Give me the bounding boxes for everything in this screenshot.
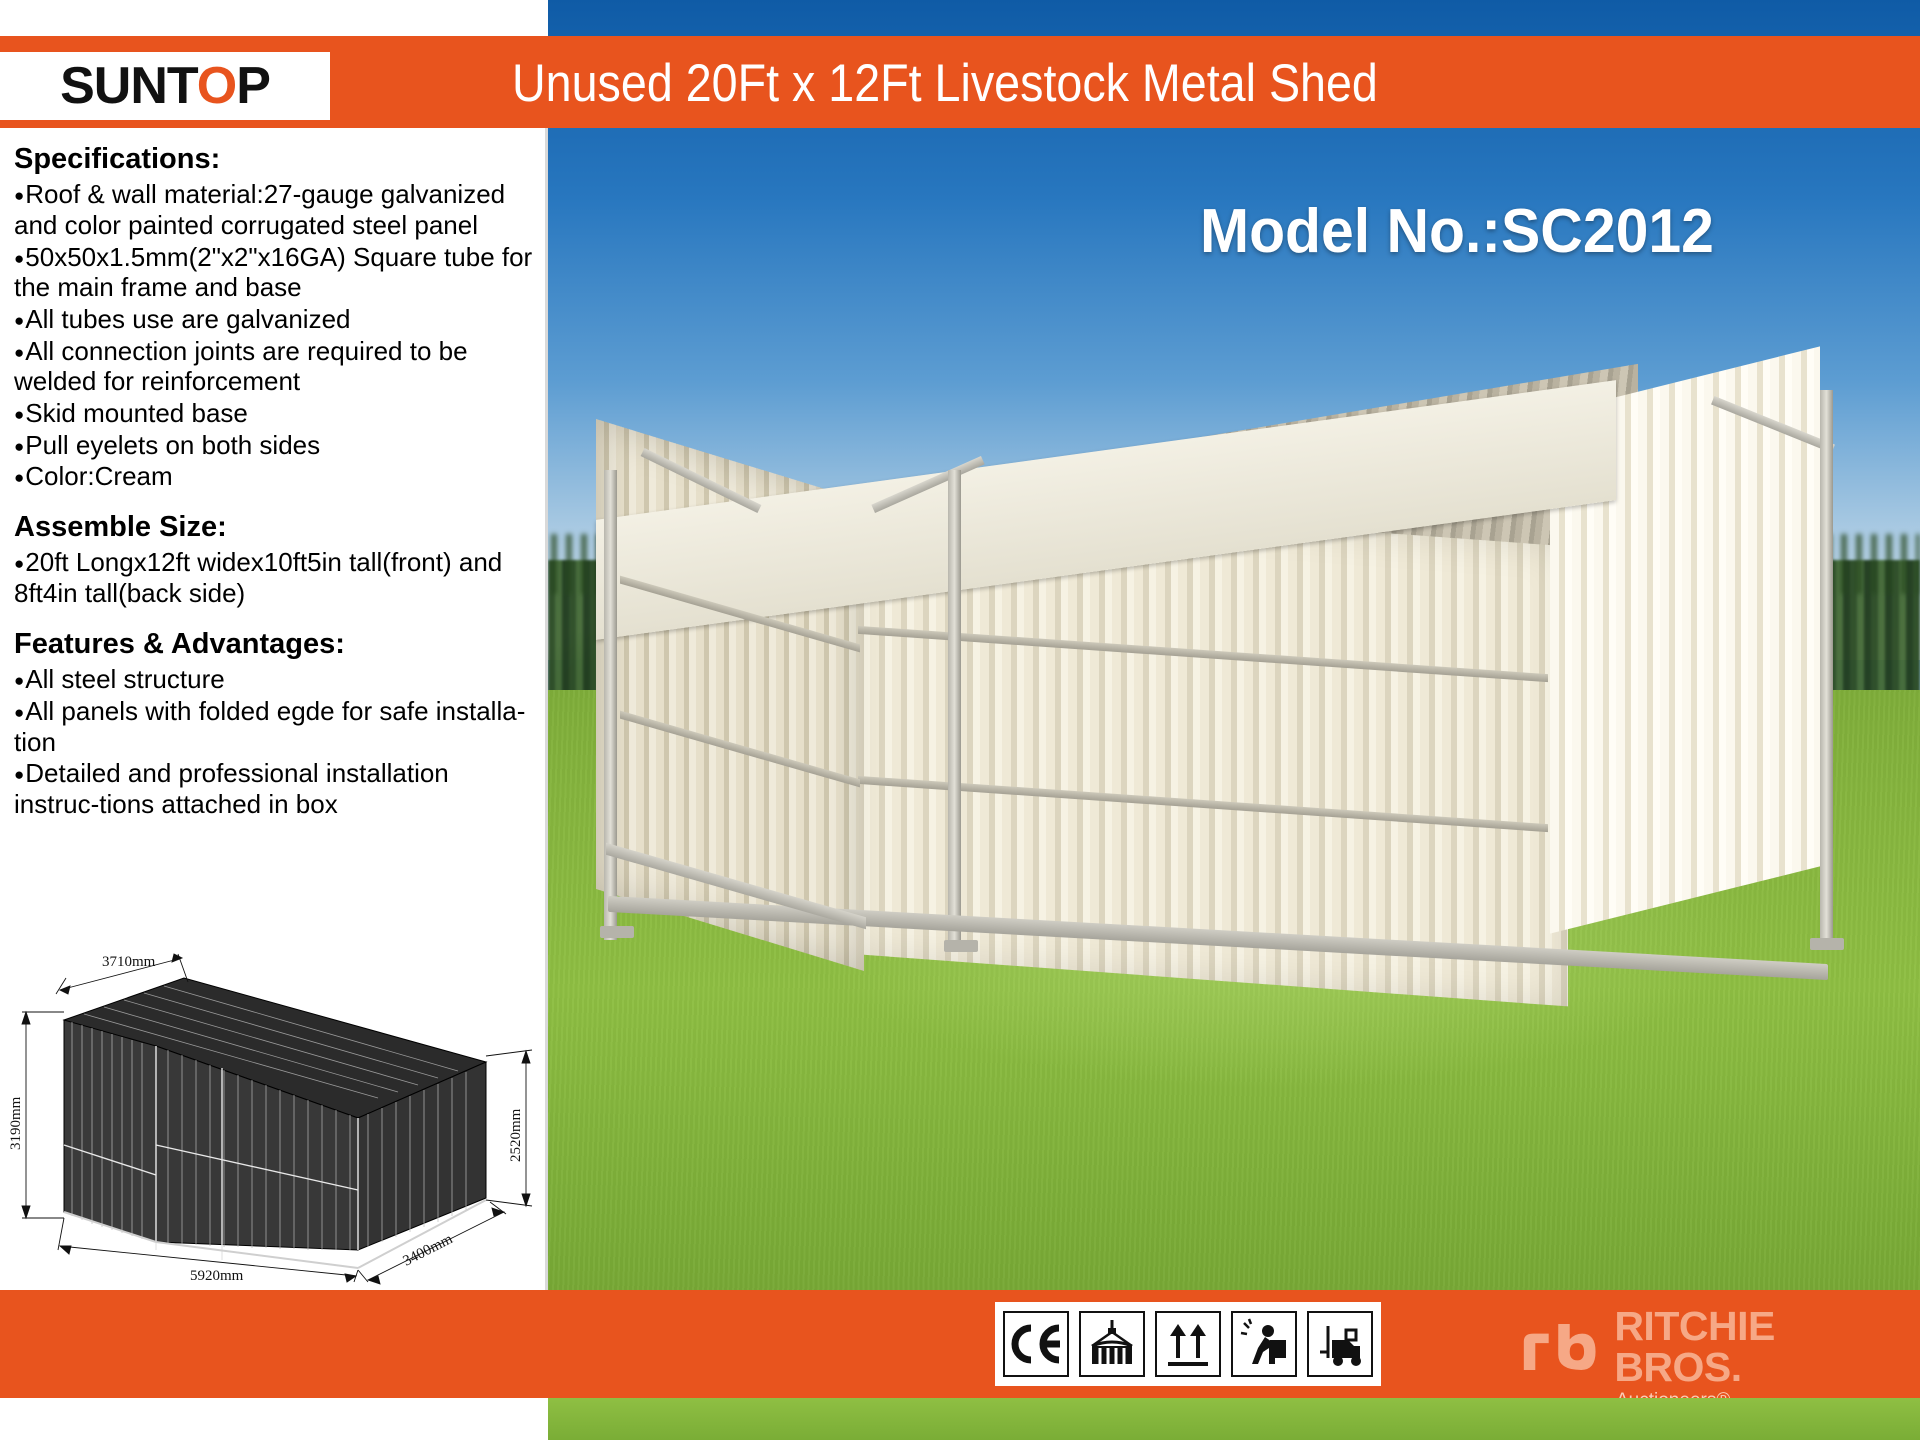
features-heading: Features & Advantages: xyxy=(14,627,536,662)
suntop-logo-text: SUNTOP xyxy=(60,60,270,112)
certification-icon-strip xyxy=(995,1302,1381,1386)
logo-text-part2: P xyxy=(236,57,270,115)
model-number: Model No.:SC2012 xyxy=(1200,196,1714,267)
forklift-icon xyxy=(1307,1311,1373,1377)
list-item: All connection joints are required to be… xyxy=(14,336,536,397)
dimension-front-height xyxy=(22,1012,64,1218)
shed-post xyxy=(1820,390,1833,950)
dimension-label-front-height: 3190mm xyxy=(8,1096,24,1150)
specifications-heading: Specifications: xyxy=(14,142,536,177)
manual-handling-icon xyxy=(1231,1311,1297,1377)
shed-base-foot xyxy=(600,926,634,938)
ritchie-bros-wordmark: RITCHIE BROS. xyxy=(1614,1306,1900,1388)
assemble-size-list: 20ft Longx12ft widex10ft5in tall(front) … xyxy=(14,547,536,608)
technical-drawing: 3710mm 3190mm 2520mm xyxy=(6,950,548,1290)
page-title: Unused 20Ft x 12Ft Livestock Metal Shed xyxy=(512,48,1682,120)
shed-base-foot xyxy=(1810,938,1844,950)
dimension-label-roof-width: 3710mm xyxy=(102,954,156,970)
specifications-list: Roof & wall material:27-gauge galvanized… xyxy=(14,179,536,492)
list-item: Roof & wall material:27-gauge galvanized… xyxy=(14,179,536,240)
this-way-up-icon xyxy=(1155,1311,1221,1377)
suntop-logo: SUNTOP xyxy=(0,52,330,120)
bottom-strip-left xyxy=(0,1398,548,1440)
assemble-size-heading: Assemble Size: xyxy=(14,510,536,545)
list-item: 50x50x1.5mm(2"x2"x16GA) Square tube for … xyxy=(14,242,536,303)
ce-mark-icon xyxy=(1003,1311,1069,1377)
list-item: All panels with folded egde for safe ins… xyxy=(14,696,536,757)
bottom-grass-strip xyxy=(548,1398,1920,1440)
shed-post xyxy=(948,470,961,940)
shed-post xyxy=(604,470,617,940)
list-item: 20ft Longx12ft widex10ft5in tall(front) … xyxy=(14,547,536,608)
technical-drawing-svg: 3710mm 3190mm 2520mm xyxy=(6,950,548,1286)
dimension-label-back-height: 2520mm xyxy=(508,1108,524,1162)
dimension-label-depth: 3400mm xyxy=(401,1231,456,1270)
rb-monogram-icon xyxy=(1520,1319,1600,1375)
dimension-label-length: 5920mm xyxy=(190,1268,244,1284)
product-spec-sheet: SUNTOP Unused 20Ft x 12Ft Livestock Meta… xyxy=(0,0,1920,1440)
list-item: Detailed and professional installation i… xyxy=(14,758,536,819)
ritchie-bros-logo: RITCHIE BROS. Auctioneers® xyxy=(1520,1306,1900,1388)
list-item: Skid mounted base xyxy=(14,398,536,429)
list-item: Pull eyelets on both sides xyxy=(14,430,536,461)
sling-lifting-icon xyxy=(1079,1311,1145,1377)
list-item: All steel structure xyxy=(14,664,536,695)
list-item: All tubes use are galvanized xyxy=(14,304,536,335)
footer-bar-left xyxy=(0,1290,548,1398)
logo-text-o: O xyxy=(197,57,236,115)
shed-base-foot xyxy=(944,940,978,952)
features-list: All steel structure All panels with fold… xyxy=(14,664,536,819)
logo-text-part1: SUNT xyxy=(60,57,197,115)
list-item: Color:Cream xyxy=(14,461,536,492)
